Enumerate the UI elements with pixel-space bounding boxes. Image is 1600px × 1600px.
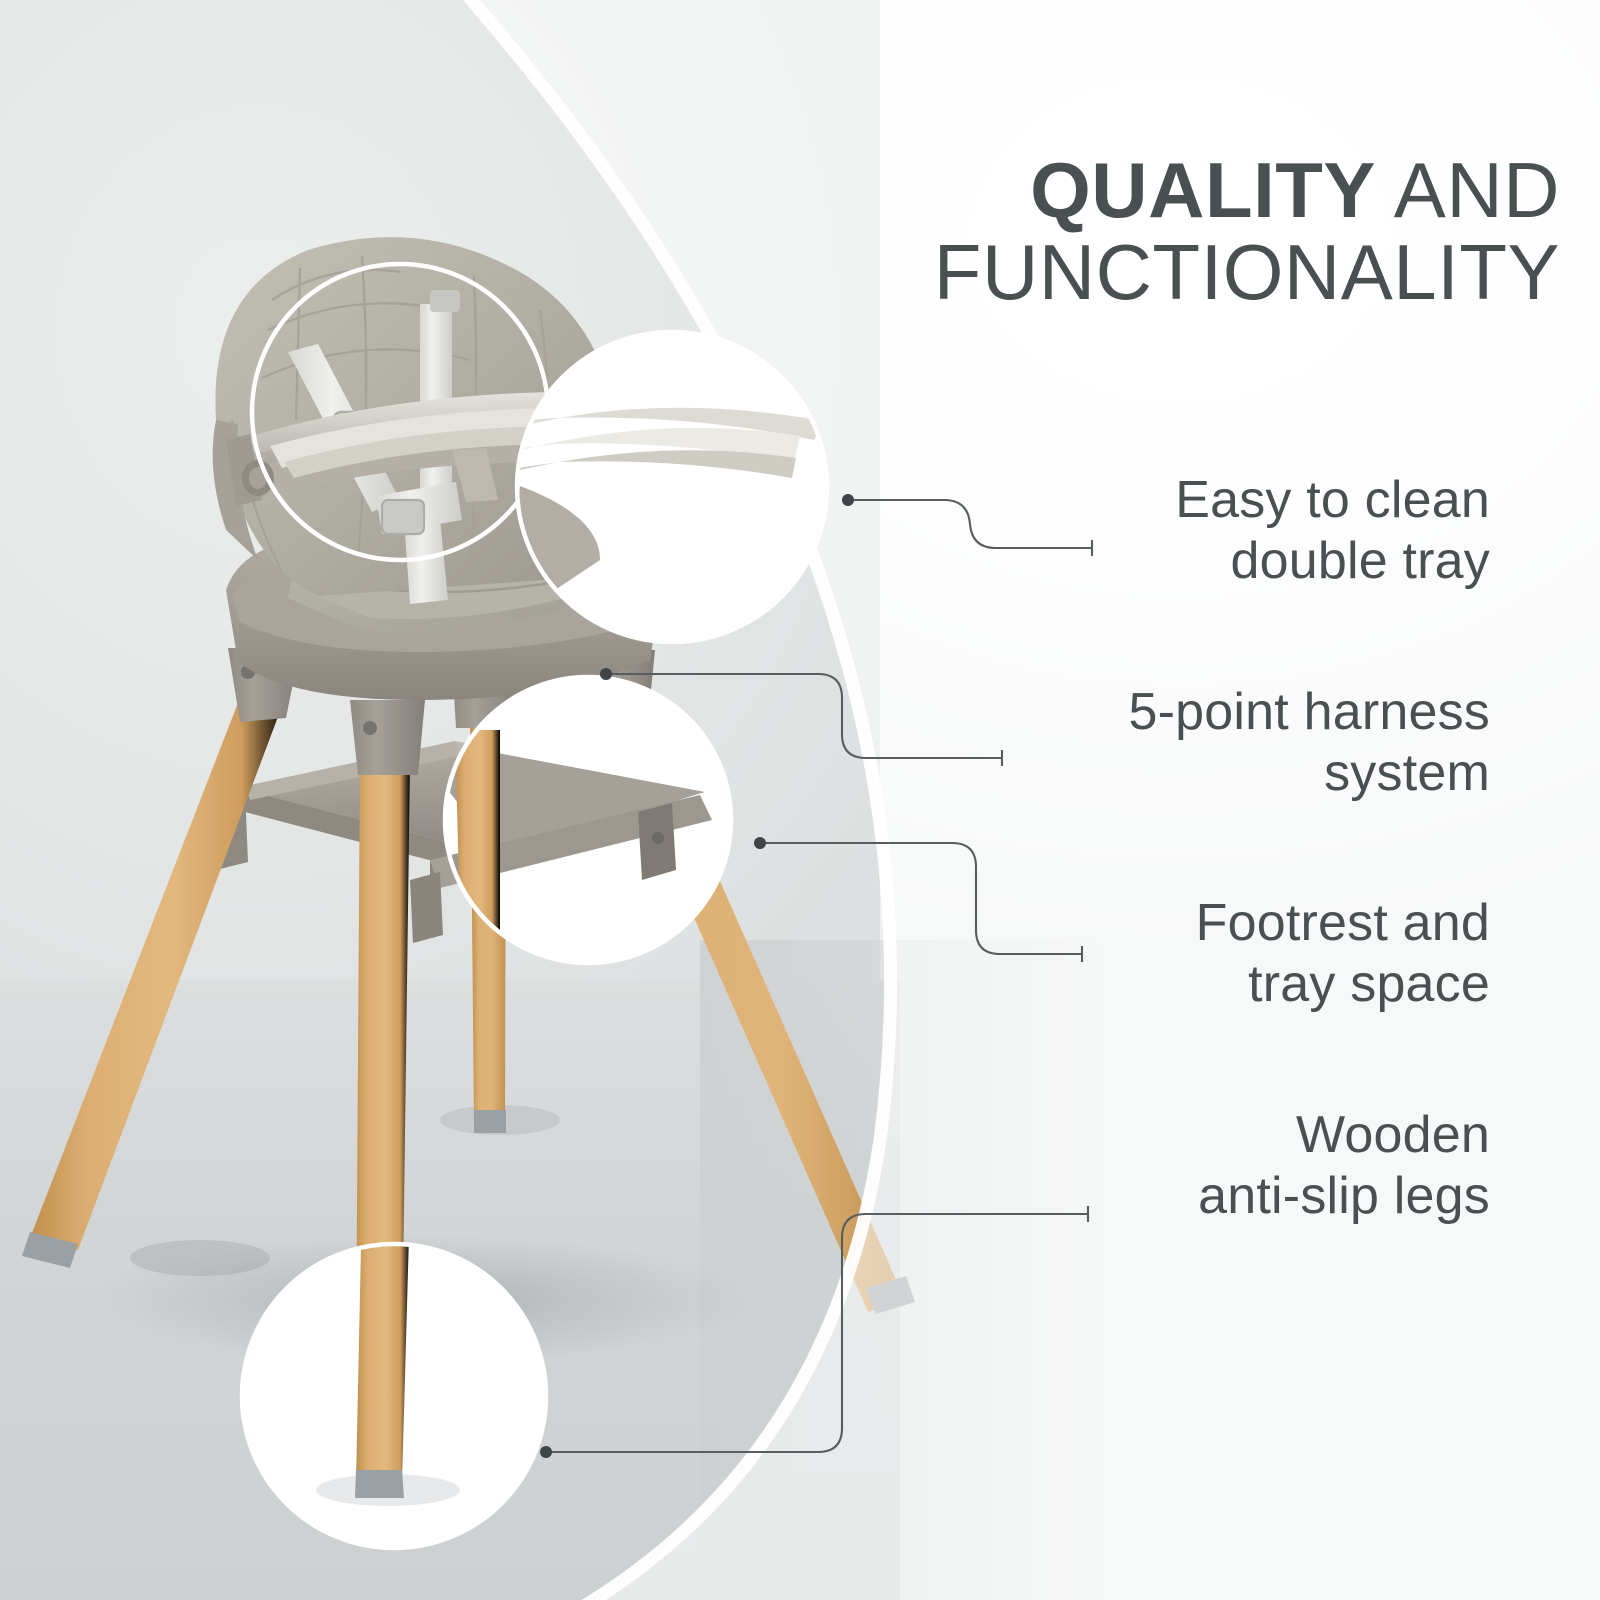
page-title: QUALITY AND FUNCTIONALITY (760, 150, 1560, 314)
feature-label-5-point-harness-system: 5-point harness system (960, 682, 1490, 804)
connector-harness (600, 668, 1002, 766)
feature-label-wooden-anti-slip-legs: Wooden anti-slip legs (960, 1105, 1490, 1227)
feature-label-easy-to-clean-double-tray: Easy to clean double tray (960, 470, 1490, 592)
connector-legs (540, 1206, 1088, 1458)
title-rest: AND (1376, 146, 1560, 234)
title-line-2: FUNCTIONALITY (760, 232, 1560, 314)
title-strong: QUALITY (1030, 146, 1376, 234)
feature-label-footrest-and-tray-space: Footrest and tray space (960, 893, 1490, 1015)
infographic-canvas: QUALITY AND FUNCTIONALITY Easy to clean … (0, 0, 1600, 1600)
